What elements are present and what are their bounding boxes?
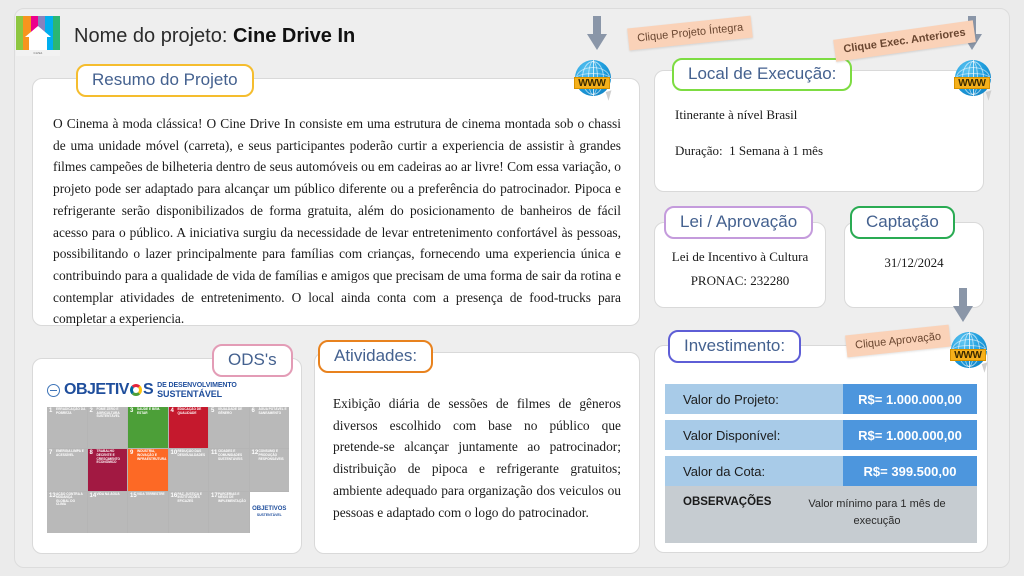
ods-goal-number: 7 bbox=[49, 450, 52, 456]
card-ods: OBJETIVS DE DESENVOLVIMENTO SUSTENTÁVEL … bbox=[32, 358, 302, 554]
badge-resumo-projeto: Resumo do Projeto bbox=[76, 64, 254, 97]
ods-goals-grid: 1ERRADICAÇÃO DA POBREZA2FOME ZERO E AGRI… bbox=[47, 407, 289, 533]
ods-goal-8: 8TRABALHO DECENTE E CRESCIMENTO ECONÔMIC… bbox=[88, 449, 128, 490]
www-label: WWW bbox=[954, 77, 990, 89]
ods-logo: OBJETIVS DE DESENVOLVIMENTO SUSTENTÁVEL bbox=[47, 381, 237, 399]
badge-captacao: Captação bbox=[850, 206, 955, 239]
ods-logo-sub: DE DESENVOLVIMENTO SUSTENTÁVEL bbox=[157, 382, 237, 398]
un-emblem-icon bbox=[47, 384, 60, 397]
observacoes-title: OBSERVAÇÕES bbox=[675, 492, 787, 529]
ods-goal-6: 6ÁGUA POTÁVEL E SANEAMENTO bbox=[250, 407, 290, 448]
badge-ods: ODS's bbox=[212, 344, 293, 377]
ods-goal-1: 1ERRADICAÇÃO DA POBREZA bbox=[47, 407, 87, 448]
ods-goal-15: 15VIDA TERRESTRE bbox=[128, 492, 168, 533]
ods-goal-label: INDÚSTRIA, INOVAÇÃO E INFRAESTRUTURA bbox=[137, 450, 167, 461]
inv-label: Valor do Projeto: bbox=[665, 384, 843, 414]
ods-goal-16: 16PAZ, JUSTIÇA E INSTITUIÇÕES EFICAZES bbox=[169, 492, 209, 533]
ods-goal-number: 16 bbox=[171, 493, 178, 499]
ods-goal-7: 7ENERGIA LIMPA E ACESSÍVEL bbox=[47, 449, 87, 490]
ods-goal-label: SAÚDE E BEM-ESTAR bbox=[137, 408, 167, 415]
www-globe-icon[interactable]: WWW bbox=[572, 58, 614, 100]
badge-investimento: Investimento: bbox=[668, 330, 801, 363]
ods-goal-number: 13 bbox=[49, 493, 56, 499]
investimento-table: Valor do Projeto: R$= 1.000.000,00 Valor… bbox=[665, 384, 977, 543]
captacao-date: 31/12/2024 bbox=[853, 255, 975, 271]
ods-sub-line2: SUSTENTÁVEL bbox=[157, 390, 237, 398]
ods-goal-logo: OBJETIVOSSUSTENTÁVEL bbox=[250, 492, 290, 533]
project-name: Cine Drive In bbox=[233, 25, 355, 47]
observacoes-block: OBSERVAÇÕES Valor mínimo para 1 mês de e… bbox=[665, 486, 977, 543]
local-duration-label: Duração: bbox=[675, 143, 723, 158]
ods-goal-number: 12 bbox=[252, 450, 259, 456]
card-investimento: Valor do Projeto: R$= 1.000.000,00 Valor… bbox=[654, 345, 988, 553]
arrow-down-icon bbox=[953, 288, 973, 322]
casa-logo-icon: CASA bbox=[16, 16, 60, 56]
ods-goal-number: 4 bbox=[171, 408, 174, 414]
ods-goal-17: 17PARCERIAS E MEIOS DE IMPLEMENTAÇÃO bbox=[209, 492, 249, 533]
inv-label: Valor Disponível: bbox=[665, 420, 843, 450]
card-atividades: Exibição diária de sessões de filmes de … bbox=[314, 352, 640, 554]
www-globe-icon[interactable]: WWW bbox=[952, 58, 994, 100]
ods-goal-number: 14 bbox=[90, 493, 97, 499]
resumo-text: O Cinema à moda clássica! O Cine Drive I… bbox=[53, 113, 621, 330]
logo-caption: CASA bbox=[16, 50, 60, 56]
arrow-down-icon bbox=[587, 16, 607, 50]
inv-value: R$= 1.000.000,00 bbox=[843, 384, 977, 414]
cursor-arrow-icon bbox=[982, 362, 990, 372]
table-row: Valor do Projeto: R$= 1.000.000,00 bbox=[665, 384, 977, 414]
card-resumo-projeto: O Cinema à moda clássica! O Cine Drive I… bbox=[32, 78, 640, 326]
ods-goal-label: TRABALHO DECENTE E CRESCIMENTO ECONÔMICO bbox=[97, 450, 127, 464]
page-title-label: Nome do projeto: bbox=[74, 25, 227, 47]
ods-goal-label: ERRADICAÇÃO DA POBREZA bbox=[56, 408, 86, 415]
ods-goal-label: PARCERIAS E MEIOS DE IMPLEMENTAÇÃO bbox=[218, 493, 248, 504]
ods-goal-5: 5IGUALDADE DE GÊNERO bbox=[209, 407, 249, 448]
ods-goal-label: VIDA NA ÁGUA bbox=[97, 493, 127, 497]
cursor-arrow-icon bbox=[606, 90, 614, 100]
ods-goal-14: 14VIDA NA ÁGUA bbox=[88, 492, 128, 533]
page-title: Nome do projeto: Cine Drive In bbox=[74, 25, 355, 48]
logo-house-shape bbox=[25, 26, 51, 50]
ods-goal-12: 12CONSUMO E PRODUÇÃO RESPONSÁVEIS bbox=[250, 449, 290, 490]
ods-goal-13: 13AÇÃO CONTRA A MUDANÇA GLOBAL DO CLIMA bbox=[47, 492, 87, 533]
www-label: WWW bbox=[950, 349, 986, 361]
ods-goal-number: 2 bbox=[90, 408, 93, 414]
ods-goal-label: ÁGUA POTÁVEL E SANEAMENTO bbox=[259, 408, 289, 415]
ods-goal-label: IGUALDADE DE GÊNERO bbox=[218, 408, 248, 415]
ods-goal-label: VIDA TERRESTRE bbox=[137, 493, 167, 497]
ods-goal-number: 17 bbox=[211, 493, 218, 499]
lei-pronac: PRONAC: 232280 bbox=[663, 273, 817, 289]
ods-goal-3: 3SAÚDE E BEM-ESTAR bbox=[128, 407, 168, 448]
ods-goal-number: 5 bbox=[211, 408, 214, 414]
badge-lei-aprovacao: Lei / Aprovação bbox=[664, 206, 813, 239]
ods-grid-logo-sub: SUSTENTÁVEL bbox=[257, 512, 282, 519]
badge-local-execucao: Local de Execução: bbox=[672, 58, 852, 91]
ods-goal-label: FOME ZERO E AGRICULTURA SUSTENTÁVEL bbox=[97, 408, 127, 419]
local-duration-value: 1 Semana à 1 mês bbox=[729, 143, 823, 158]
ods-goal-label: REDUÇÃO DAS DESIGUALDADES bbox=[178, 450, 208, 457]
ods-goal-label: PAZ, JUSTIÇA E INSTITUIÇÕES EFICAZES bbox=[178, 493, 208, 504]
ods-goal-label: CONSUMO E PRODUÇÃO RESPONSÁVEIS bbox=[259, 450, 289, 461]
badge-atividades: Atividades: bbox=[318, 340, 433, 373]
observacoes-text: Valor mínimo para 1 mês de execução bbox=[787, 492, 967, 529]
lei-nome: Lei de Incentivo à Cultura bbox=[663, 249, 817, 265]
ods-goal-label: EDUCAÇÃO DE QUALIDADE bbox=[178, 408, 208, 415]
page-header: CASA Nome do projeto: Cine Drive In bbox=[16, 8, 576, 64]
table-row: Valor Disponível: R$= 1.000.000,00 bbox=[665, 420, 977, 450]
inv-value: R$= 399.500,00 bbox=[843, 456, 977, 486]
ods-goal-11: 11CIDADES E COMUNIDADES SUSTENTÁVEIS bbox=[209, 449, 249, 490]
ods-goal-number: 11 bbox=[211, 450, 217, 456]
ods-goal-number: 15 bbox=[130, 493, 137, 499]
ods-goal-number: 1 bbox=[49, 408, 52, 414]
ods-goal-10: 10REDUÇÃO DAS DESIGUALDADES bbox=[169, 449, 209, 490]
ods-goal-label: AÇÃO CONTRA A MUDANÇA GLOBAL DO CLIMA bbox=[56, 493, 86, 507]
ods-goal-number: 3 bbox=[130, 408, 133, 414]
ods-goal-number: 9 bbox=[130, 450, 133, 456]
table-row: Valor da Cota: R$= 399.500,00 bbox=[665, 456, 977, 486]
ods-goal-2: 2FOME ZERO E AGRICULTURA SUSTENTÁVEL bbox=[88, 407, 128, 448]
ods-goal-number: 6 bbox=[252, 408, 255, 414]
inv-value: R$= 1.000.000,00 bbox=[843, 420, 977, 450]
inv-label: Valor da Cota: bbox=[665, 456, 843, 486]
www-label: WWW bbox=[574, 77, 610, 89]
local-duration: Duração: 1 Semana à 1 mês bbox=[675, 143, 967, 159]
ods-goal-4: 4EDUCAÇÃO DE QUALIDADE bbox=[169, 407, 209, 448]
ods-goal-label: ENERGIA LIMPA E ACESSÍVEL bbox=[56, 450, 86, 457]
ods-goal-number: 8 bbox=[90, 450, 93, 456]
ods-logo-word: OBJETIVS bbox=[64, 381, 153, 399]
www-globe-icon[interactable]: WWW bbox=[948, 330, 990, 372]
atividades-text: Exibição diária de sessões de filmes de … bbox=[333, 393, 621, 523]
ods-ring-icon bbox=[130, 384, 142, 396]
ods-goal-9: 9INDÚSTRIA, INOVAÇÃO E INFRAESTRUTURA bbox=[128, 449, 168, 490]
local-place: Itinerante à nível Brasil bbox=[675, 107, 967, 123]
ods-goal-number: 10 bbox=[171, 450, 178, 456]
ods-goal-label: CIDADES E COMUNIDADES SUSTENTÁVEIS bbox=[218, 450, 248, 461]
cursor-arrow-icon bbox=[986, 90, 994, 100]
